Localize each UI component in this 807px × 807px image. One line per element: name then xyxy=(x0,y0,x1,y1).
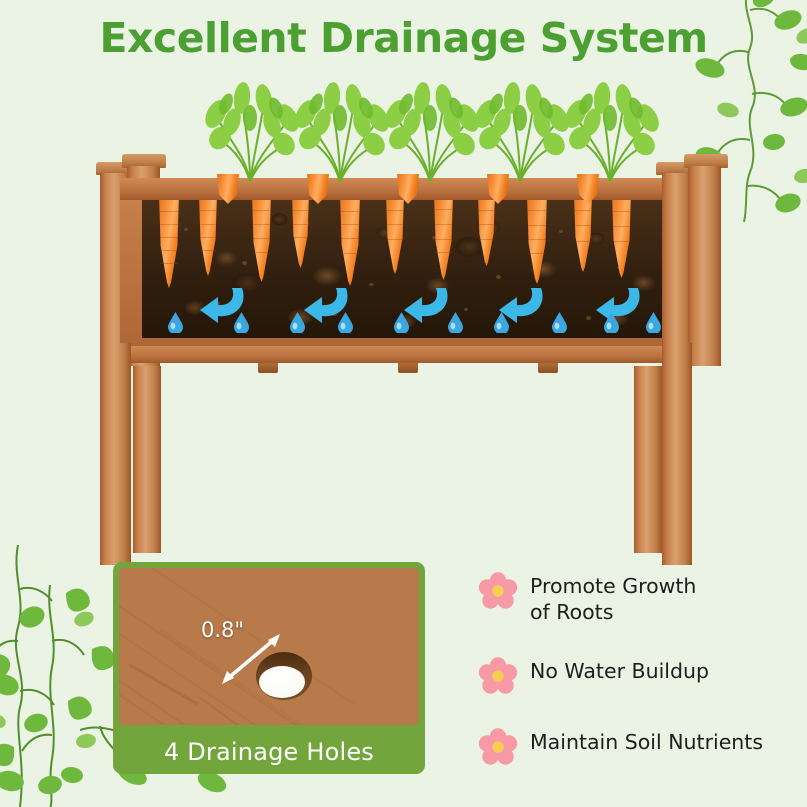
soil-cutaway-window xyxy=(142,200,670,338)
carrot-foliage xyxy=(468,78,572,182)
carrot-root xyxy=(252,200,271,282)
infographic-canvas: Excellent Drainage System xyxy=(0,0,807,807)
card-caption: 4 Drainage Holes xyxy=(113,729,425,774)
flower-icon xyxy=(478,727,518,767)
raised-garden-bed xyxy=(96,150,716,550)
list-item: No Water Buildup xyxy=(478,655,798,696)
wood-panel: 0.8" xyxy=(119,568,419,725)
water-droplet xyxy=(168,312,183,333)
carrot-root xyxy=(292,200,309,268)
carrot-foliage xyxy=(288,78,392,182)
carrot-root xyxy=(340,200,360,286)
support-tab xyxy=(398,363,418,373)
leg-front-left xyxy=(133,366,161,553)
carrot-root xyxy=(159,200,179,288)
list-item-label: Promote Growth of Roots xyxy=(530,570,696,625)
carrot-root xyxy=(478,200,495,266)
water-flow-arrow xyxy=(402,284,452,324)
water-droplet xyxy=(290,312,305,333)
list-item-label: No Water Buildup xyxy=(530,655,709,684)
carrot-root xyxy=(612,200,631,278)
carrot-foliage xyxy=(198,78,302,182)
list-item: Maintain Soil Nutrients xyxy=(478,726,798,767)
leg-back-left xyxy=(100,343,131,565)
carrot-root xyxy=(434,200,453,280)
water-droplet xyxy=(338,312,353,333)
planter-box-frame xyxy=(120,178,692,363)
water-droplet xyxy=(394,312,409,333)
carrot-root xyxy=(574,200,592,272)
water-droplet xyxy=(604,312,619,333)
water-droplet xyxy=(234,312,249,333)
drainage-hole xyxy=(256,652,312,700)
drainage-hole-card: 0.8" 4 Drainage Holes xyxy=(113,562,425,774)
water-droplet xyxy=(448,312,463,333)
flower-icon xyxy=(478,656,518,696)
carrot-root xyxy=(527,200,547,284)
water-droplet xyxy=(494,312,509,333)
list-item-label: Maintain Soil Nutrients xyxy=(530,726,763,755)
carrot-foliage xyxy=(558,78,662,182)
water-droplet xyxy=(646,312,661,333)
benefits-list: Promote Growth of Roots No Water Buildup xyxy=(478,570,798,767)
leg-front-right xyxy=(634,366,662,553)
carrot-foliage xyxy=(378,78,482,182)
post-front-right xyxy=(688,166,721,366)
water-flow-arrow xyxy=(594,284,644,324)
list-item: Promote Growth of Roots xyxy=(478,570,798,625)
flower-icon xyxy=(478,571,518,611)
carrot-root xyxy=(386,200,404,274)
carrot-root xyxy=(199,200,217,276)
water-droplet xyxy=(552,312,567,333)
support-tab xyxy=(258,363,278,373)
support-tab xyxy=(538,363,558,373)
leg-back-right xyxy=(662,343,692,565)
page-title: Excellent Drainage System xyxy=(0,14,807,62)
bottom-rail xyxy=(120,346,692,363)
